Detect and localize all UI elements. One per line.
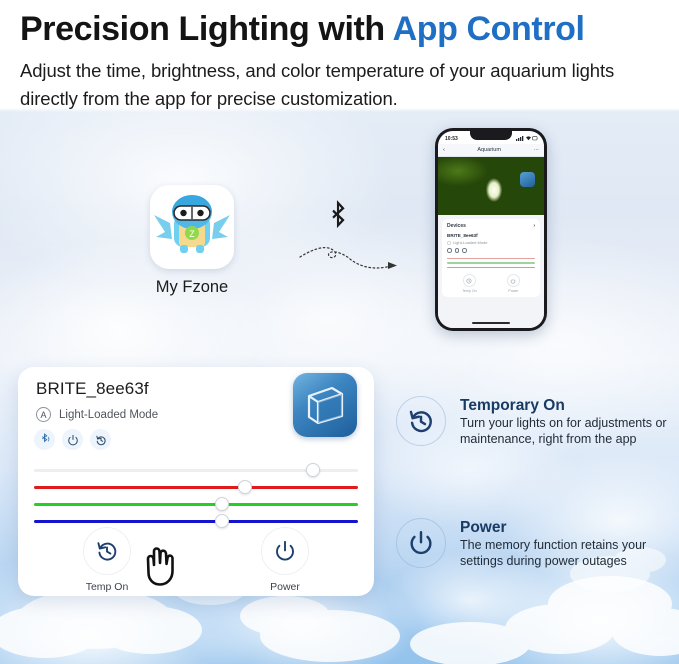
status-indicators-icon <box>516 135 538 142</box>
phone-nav-bar: ‹ Aquarium ··· <box>438 144 544 157</box>
my-fzone-mascot-icon[interactable]: Z <box>150 185 234 269</box>
color-sliders[interactable] <box>34 462 358 530</box>
slider-green[interactable] <box>34 496 358 513</box>
power-icon[interactable] <box>62 429 83 450</box>
phone-slider-blue[interactable] <box>447 267 535 269</box>
phone-bluetooth-icon[interactable] <box>447 248 452 253</box>
phone-status-time: 10:53 <box>445 136 458 142</box>
timer-icon <box>466 278 472 284</box>
phone-nav-title: Aquarium <box>477 147 501 153</box>
timer-icon[interactable] <box>90 429 111 450</box>
feature-power-desc: The memory function retains your setting… <box>460 538 674 569</box>
page-title-accent: App Control <box>393 10 585 48</box>
phone-power-button[interactable]: Power <box>507 274 520 293</box>
power-button[interactable]: Power <box>196 527 374 593</box>
phone-device-mode: Light-Loaded Mode <box>447 240 535 245</box>
phone-mockup: 10:53 ‹ Aquarium ··· Devices › BRITE <box>435 128 547 331</box>
slider-green-knob[interactable] <box>215 497 229 511</box>
phone-device-name: BRITE_8ee63f <box>447 233 535 238</box>
timer-icon <box>95 539 119 563</box>
phone-timer-ring <box>463 274 476 287</box>
phone-slider-red[interactable] <box>447 258 535 260</box>
phone-device-mode-label: Light-Loaded Mode <box>453 240 487 245</box>
page-subtitle: Adjust the time, brightness, and color t… <box>20 57 672 113</box>
phone-sliders[interactable] <box>447 258 535 269</box>
phone-devices-header: Devices › <box>447 223 535 229</box>
bluetooth-icon <box>325 195 351 229</box>
phone-devices-label: Devices <box>447 223 466 229</box>
feature-temporary-on-title: Temporary On <box>460 396 674 415</box>
slider-green-track <box>34 503 358 506</box>
power-label: Power <box>196 581 374 593</box>
power-icon-ring <box>396 518 446 568</box>
slider-brightness-knob[interactable] <box>306 463 320 477</box>
device-status-icons[interactable] <box>34 429 111 450</box>
mode-label: Light-Loaded Mode <box>59 409 158 421</box>
mode-badge-icon <box>447 241 451 245</box>
slider-red[interactable] <box>34 479 358 496</box>
phone-slider-green[interactable] <box>447 262 535 264</box>
timer-icon <box>407 407 435 435</box>
page-header: Precision Lighting with App Control Adju… <box>20 8 672 113</box>
feature-temporary-on: Temporary On Turn your lights on for adj… <box>396 396 674 447</box>
device-control-card: BRITE_8ee63f A Light-Loaded Mode <box>18 367 374 596</box>
app-icon-group[interactable]: Z My Fzone <box>146 185 238 297</box>
mode-badge: A <box>36 407 51 422</box>
app-icon-label: My Fzone <box>146 278 238 297</box>
feature-temporary-on-desc: Turn your lights on for adjustments or m… <box>460 416 674 447</box>
power-ring <box>261 527 309 575</box>
phone-product-icon <box>520 172 535 187</box>
dashed-arrow-icon <box>298 235 403 280</box>
card-action-buttons[interactable]: Temp On Power <box>18 527 374 593</box>
cube-light-icon <box>293 373 357 437</box>
phone-back-button[interactable]: ‹ <box>443 147 445 153</box>
page-title-main: Precision Lighting with <box>20 10 393 48</box>
phone-more-button[interactable]: ··· <box>533 147 539 153</box>
feature-power: Power The memory function retains your s… <box>396 518 674 569</box>
phone-home-indicator <box>472 322 510 325</box>
temporary-on-icon-ring <box>396 396 446 446</box>
hand-pointer-icon <box>139 541 187 589</box>
page-title: Precision Lighting with App Control <box>20 8 672 50</box>
phone-temp-on-label: Temp On <box>462 289 477 293</box>
slider-red-track <box>34 486 358 489</box>
phone-action-buttons[interactable]: Temp On Power <box>447 274 535 293</box>
phone-power-label: Power <box>507 289 520 293</box>
power-icon <box>407 529 435 557</box>
power-icon <box>273 539 297 563</box>
power-icon <box>510 278 516 284</box>
feature-temporary-on-text: Temporary On Turn your lights on for adj… <box>460 396 674 447</box>
phone-device-card[interactable]: Devices › BRITE_8ee63f Light-Loaded Mode <box>442 219 540 297</box>
bluetooth-icon[interactable] <box>34 429 55 450</box>
slider-red-knob[interactable] <box>238 480 252 494</box>
phone-screen: 10:53 ‹ Aquarium ··· Devices › BRITE <box>438 131 544 328</box>
phone-notch <box>470 131 512 140</box>
slider-blue-track <box>34 520 358 523</box>
temp-on-ring <box>83 527 131 575</box>
phone-power-icon[interactable] <box>455 248 460 253</box>
feature-power-text: Power The memory function retains your s… <box>460 518 674 569</box>
phone-power-ring <box>507 274 520 287</box>
device-name: BRITE_8ee63f <box>36 379 149 399</box>
phone-devices-more[interactable]: › <box>533 223 535 229</box>
phone-content: Devices › BRITE_8ee63f Light-Loaded Mode <box>438 215 544 328</box>
slider-blue-knob[interactable] <box>215 514 229 528</box>
device-mode-row: A Light-Loaded Mode <box>36 407 158 422</box>
feature-power-title: Power <box>460 518 674 537</box>
phone-temp-on-button[interactable]: Temp On <box>462 274 477 293</box>
svg-text:Z: Z <box>189 229 195 239</box>
phone-timer-icon[interactable] <box>462 248 467 253</box>
slider-brightness[interactable] <box>34 462 358 479</box>
phone-status-icons[interactable] <box>447 248 535 253</box>
